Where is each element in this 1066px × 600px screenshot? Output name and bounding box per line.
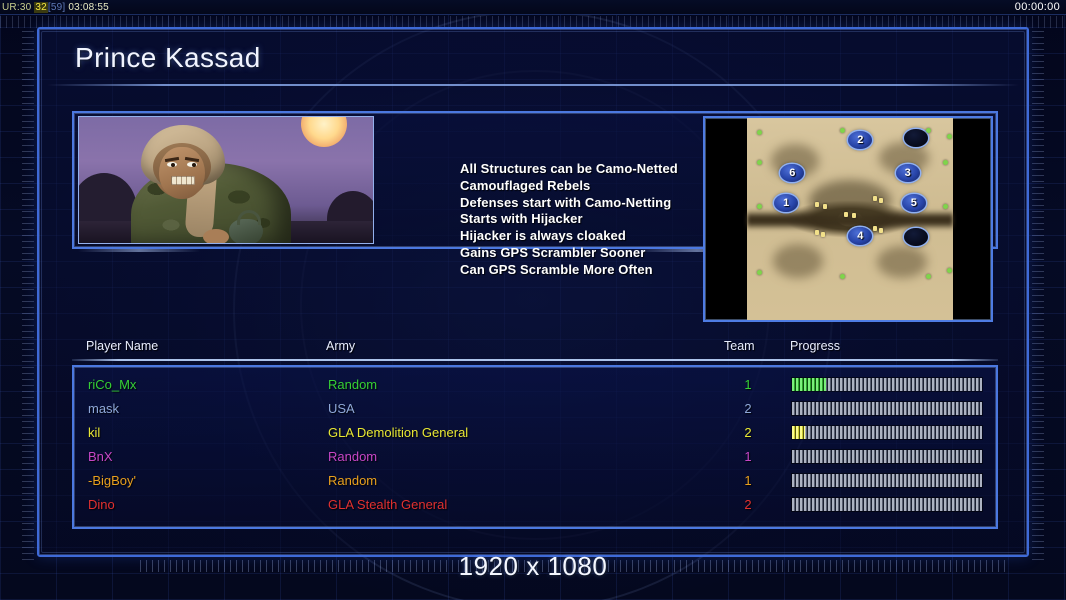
title-divider <box>47 84 1019 86</box>
player-name: -BigBoy' <box>88 469 136 493</box>
map-resource-dot <box>757 160 762 165</box>
progress-track <box>792 474 982 487</box>
map-image: 263154 <box>747 118 953 320</box>
player-army: GLA Stealth General <box>328 493 447 517</box>
portrait-pupil-right <box>192 163 196 167</box>
player-army: GLA Demolition General <box>328 421 468 445</box>
progress-track <box>792 498 982 511</box>
table-row: maskUSA2 <box>74 397 996 421</box>
map-supply-dock <box>821 232 825 237</box>
page-title: Prince Kassad <box>75 42 261 74</box>
progress-track <box>792 402 982 415</box>
map-resource-dot <box>947 268 952 273</box>
map-supply-dock <box>873 226 877 231</box>
top-status-bar: UR:30 32[59] 03:08:55 00:00:00 <box>0 0 1066 15</box>
player-team: 2 <box>738 397 758 421</box>
progress-track <box>792 450 982 463</box>
player-army: Random <box>328 445 377 469</box>
map-supply-dock <box>873 196 877 201</box>
perf-bracket: [59] <box>48 2 65 13</box>
map-resource-dot <box>840 274 845 279</box>
map-supply-dock <box>823 204 827 209</box>
table-header-divider <box>72 359 998 361</box>
map-supply-dock <box>852 213 856 218</box>
performance-readout: UR:30 32[59] 03:08:55 <box>2 1 109 14</box>
player-table: Player Name Army Team Progress riCo_MxRa… <box>72 339 998 531</box>
general-bonus-list: All Structures can be Camo-NettedCamoufl… <box>460 161 678 279</box>
perf-highlight: 32 <box>34 2 48 13</box>
map-supply-dock <box>844 212 848 217</box>
bonus-line: Starts with Hijacker <box>460 211 678 228</box>
ruler-left <box>22 30 34 560</box>
map-resource-dot <box>840 128 845 133</box>
column-header-progress: Progress <box>790 339 840 353</box>
portrait-pupil-left <box>171 163 175 167</box>
table-row: BnXRandom1 <box>74 445 996 469</box>
map-supply-dock <box>879 228 883 233</box>
bonus-line: All Structures can be Camo-Netted <box>460 161 678 178</box>
map-start-position: 5 <box>902 194 926 212</box>
loading-screen: UR:30 32[59] 03:08:55 00:00:00 Prince Ka… <box>0 0 1066 600</box>
map-preview[interactable]: 263154 <box>703 116 993 322</box>
map-supply-dock <box>879 198 883 203</box>
player-name: BnX <box>88 445 113 469</box>
player-team: 2 <box>738 493 758 517</box>
player-team: 1 <box>738 373 758 397</box>
column-header-team: Team <box>724 339 755 353</box>
perf-prefix: UR:30 <box>2 2 31 13</box>
player-progress-bar <box>792 402 982 415</box>
portrait-face <box>159 147 205 199</box>
map-start-position <box>904 129 928 147</box>
table-row: kilGLA Demolition General2 <box>74 421 996 445</box>
map-start-position: 6 <box>780 164 804 182</box>
player-name: Dino <box>88 493 115 517</box>
progress-fill <box>792 378 826 391</box>
player-team: 1 <box>738 469 758 493</box>
bonus-line: Hijacker is always cloaked <box>460 228 678 245</box>
player-army: Random <box>328 469 377 493</box>
map-resource-dot <box>943 160 948 165</box>
player-team: 2 <box>738 421 758 445</box>
ruler-right <box>1032 30 1044 560</box>
map-supply-dock <box>815 230 819 235</box>
progress-track <box>792 426 982 439</box>
map-resource-dot <box>947 134 952 139</box>
bonus-line: Gains GPS Scrambler Sooner <box>460 245 678 262</box>
sun-icon <box>301 116 347 147</box>
table-row: DinoGLA Stealth General2 <box>74 493 996 517</box>
column-header-player-name: Player Name <box>86 339 158 353</box>
map-resource-dot <box>757 204 762 209</box>
bonus-line: Defenses start with Camo-Netting <box>460 195 678 212</box>
map-start-position: 1 <box>774 194 798 212</box>
map-start-position <box>904 228 928 246</box>
player-progress-bar <box>792 426 982 439</box>
player-progress-bar <box>792 474 982 487</box>
table-body: riCo_MxRandom1maskUSA2kilGLA Demolition … <box>72 365 998 529</box>
bush-left <box>78 173 137 225</box>
player-progress-bar <box>792 450 982 463</box>
player-progress-bar <box>792 498 982 511</box>
map-terrain-blotch <box>877 246 927 278</box>
map-resource-dot <box>926 128 931 133</box>
title-bar: Prince Kassad <box>39 29 1027 87</box>
map-resource-dot <box>926 274 931 279</box>
elapsed-timer: 00:00:00 <box>1015 1 1060 14</box>
map-start-position: 2 <box>848 131 872 149</box>
bonus-line: Can GPS Scramble More Often <box>460 262 678 279</box>
table-header-row: Player Name Army Team Progress <box>72 339 998 361</box>
main-frame: Prince Kassad <box>37 27 1029 557</box>
progress-fill <box>792 426 805 439</box>
player-team: 1 <box>738 445 758 469</box>
portrait-hand <box>203 229 229 244</box>
general-info-panel: All Structures can be Camo-NettedCamoufl… <box>72 111 998 249</box>
map-start-position: 4 <box>848 227 872 245</box>
map-terrain-blotch <box>773 244 823 278</box>
player-army: Random <box>328 373 377 397</box>
portrait-teeth <box>171 176 195 185</box>
player-name: mask <box>88 397 119 421</box>
map-supply-dock <box>815 202 819 207</box>
panel-accent-left <box>78 249 200 252</box>
player-name: riCo_Mx <box>88 373 136 397</box>
player-progress-bar <box>792 378 982 391</box>
player-name: kil <box>88 421 100 445</box>
resolution-label: 1920 x 1080 <box>0 551 1066 582</box>
map-resource-dot <box>943 204 948 209</box>
perf-clock: 03:08:55 <box>68 2 109 13</box>
portrait-kettle <box>229 219 263 244</box>
map-resource-dot <box>757 270 762 275</box>
map-start-position: 3 <box>896 164 920 182</box>
map-resource-dot <box>757 130 762 135</box>
bonus-line: Camouflaged Rebels <box>460 178 678 195</box>
general-portrait <box>78 116 374 244</box>
column-header-army: Army <box>326 339 355 353</box>
table-row: -BigBoy'Random1 <box>74 469 996 493</box>
table-row: riCo_MxRandom1 <box>74 373 996 397</box>
player-army: USA <box>328 397 355 421</box>
